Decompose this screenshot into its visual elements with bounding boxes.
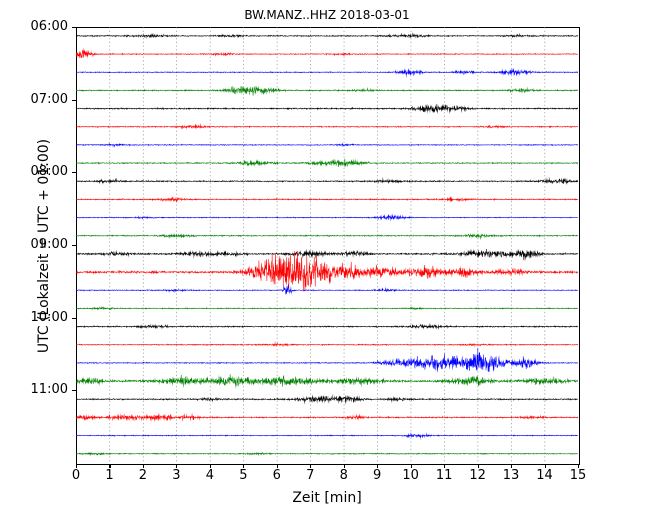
y-tick-mark xyxy=(72,245,76,246)
x-tick-mark xyxy=(377,464,378,468)
y-tick-mark xyxy=(72,27,76,28)
y-axis-label: UTC (Lokalzeit = UTC + 01:00) xyxy=(36,117,52,375)
y-tick-mark xyxy=(72,390,76,391)
x-tick-label: 15 xyxy=(558,468,598,483)
x-tick-mark xyxy=(344,464,345,468)
x-axis-label: Zeit [min] xyxy=(76,490,578,506)
x-tick-mark xyxy=(444,464,445,468)
x-tick-15: 15 xyxy=(558,468,598,486)
x-tick-mark xyxy=(511,464,512,468)
x-tick-mark xyxy=(109,464,110,468)
x-tick-mark xyxy=(478,464,479,468)
y-tick-mark xyxy=(72,172,76,173)
y-tick-label: 06:00 xyxy=(0,19,68,34)
x-tick-mark xyxy=(76,464,77,468)
y-tick-06-00: 06:00 xyxy=(0,19,68,35)
seismogram-figure: BW.MANZ..HHZ 2018-03-01 06:0007:0008:000… xyxy=(0,0,650,520)
x-tick-mark xyxy=(545,464,546,468)
y-tick-mark xyxy=(72,318,76,319)
y-tick-mark xyxy=(72,100,76,101)
x-tick-mark xyxy=(578,464,579,468)
x-tick-mark xyxy=(143,464,144,468)
x-tick-mark xyxy=(210,464,211,468)
page-title: BW.MANZ..HHZ 2018-03-01 xyxy=(76,8,578,22)
y-tick-11-00: 11:00 xyxy=(0,382,68,398)
x-tick-mark xyxy=(176,464,177,468)
seismogram-traces-canvas xyxy=(76,27,578,463)
x-tick-mark xyxy=(277,464,278,468)
y-tick-label: 11:00 xyxy=(0,382,68,397)
x-tick-mark xyxy=(411,464,412,468)
x-tick-mark xyxy=(310,464,311,468)
x-tick-mark xyxy=(243,464,244,468)
y-axis-label-holder: UTC (Lokalzeit = UTC + 01:00) xyxy=(0,100,20,360)
